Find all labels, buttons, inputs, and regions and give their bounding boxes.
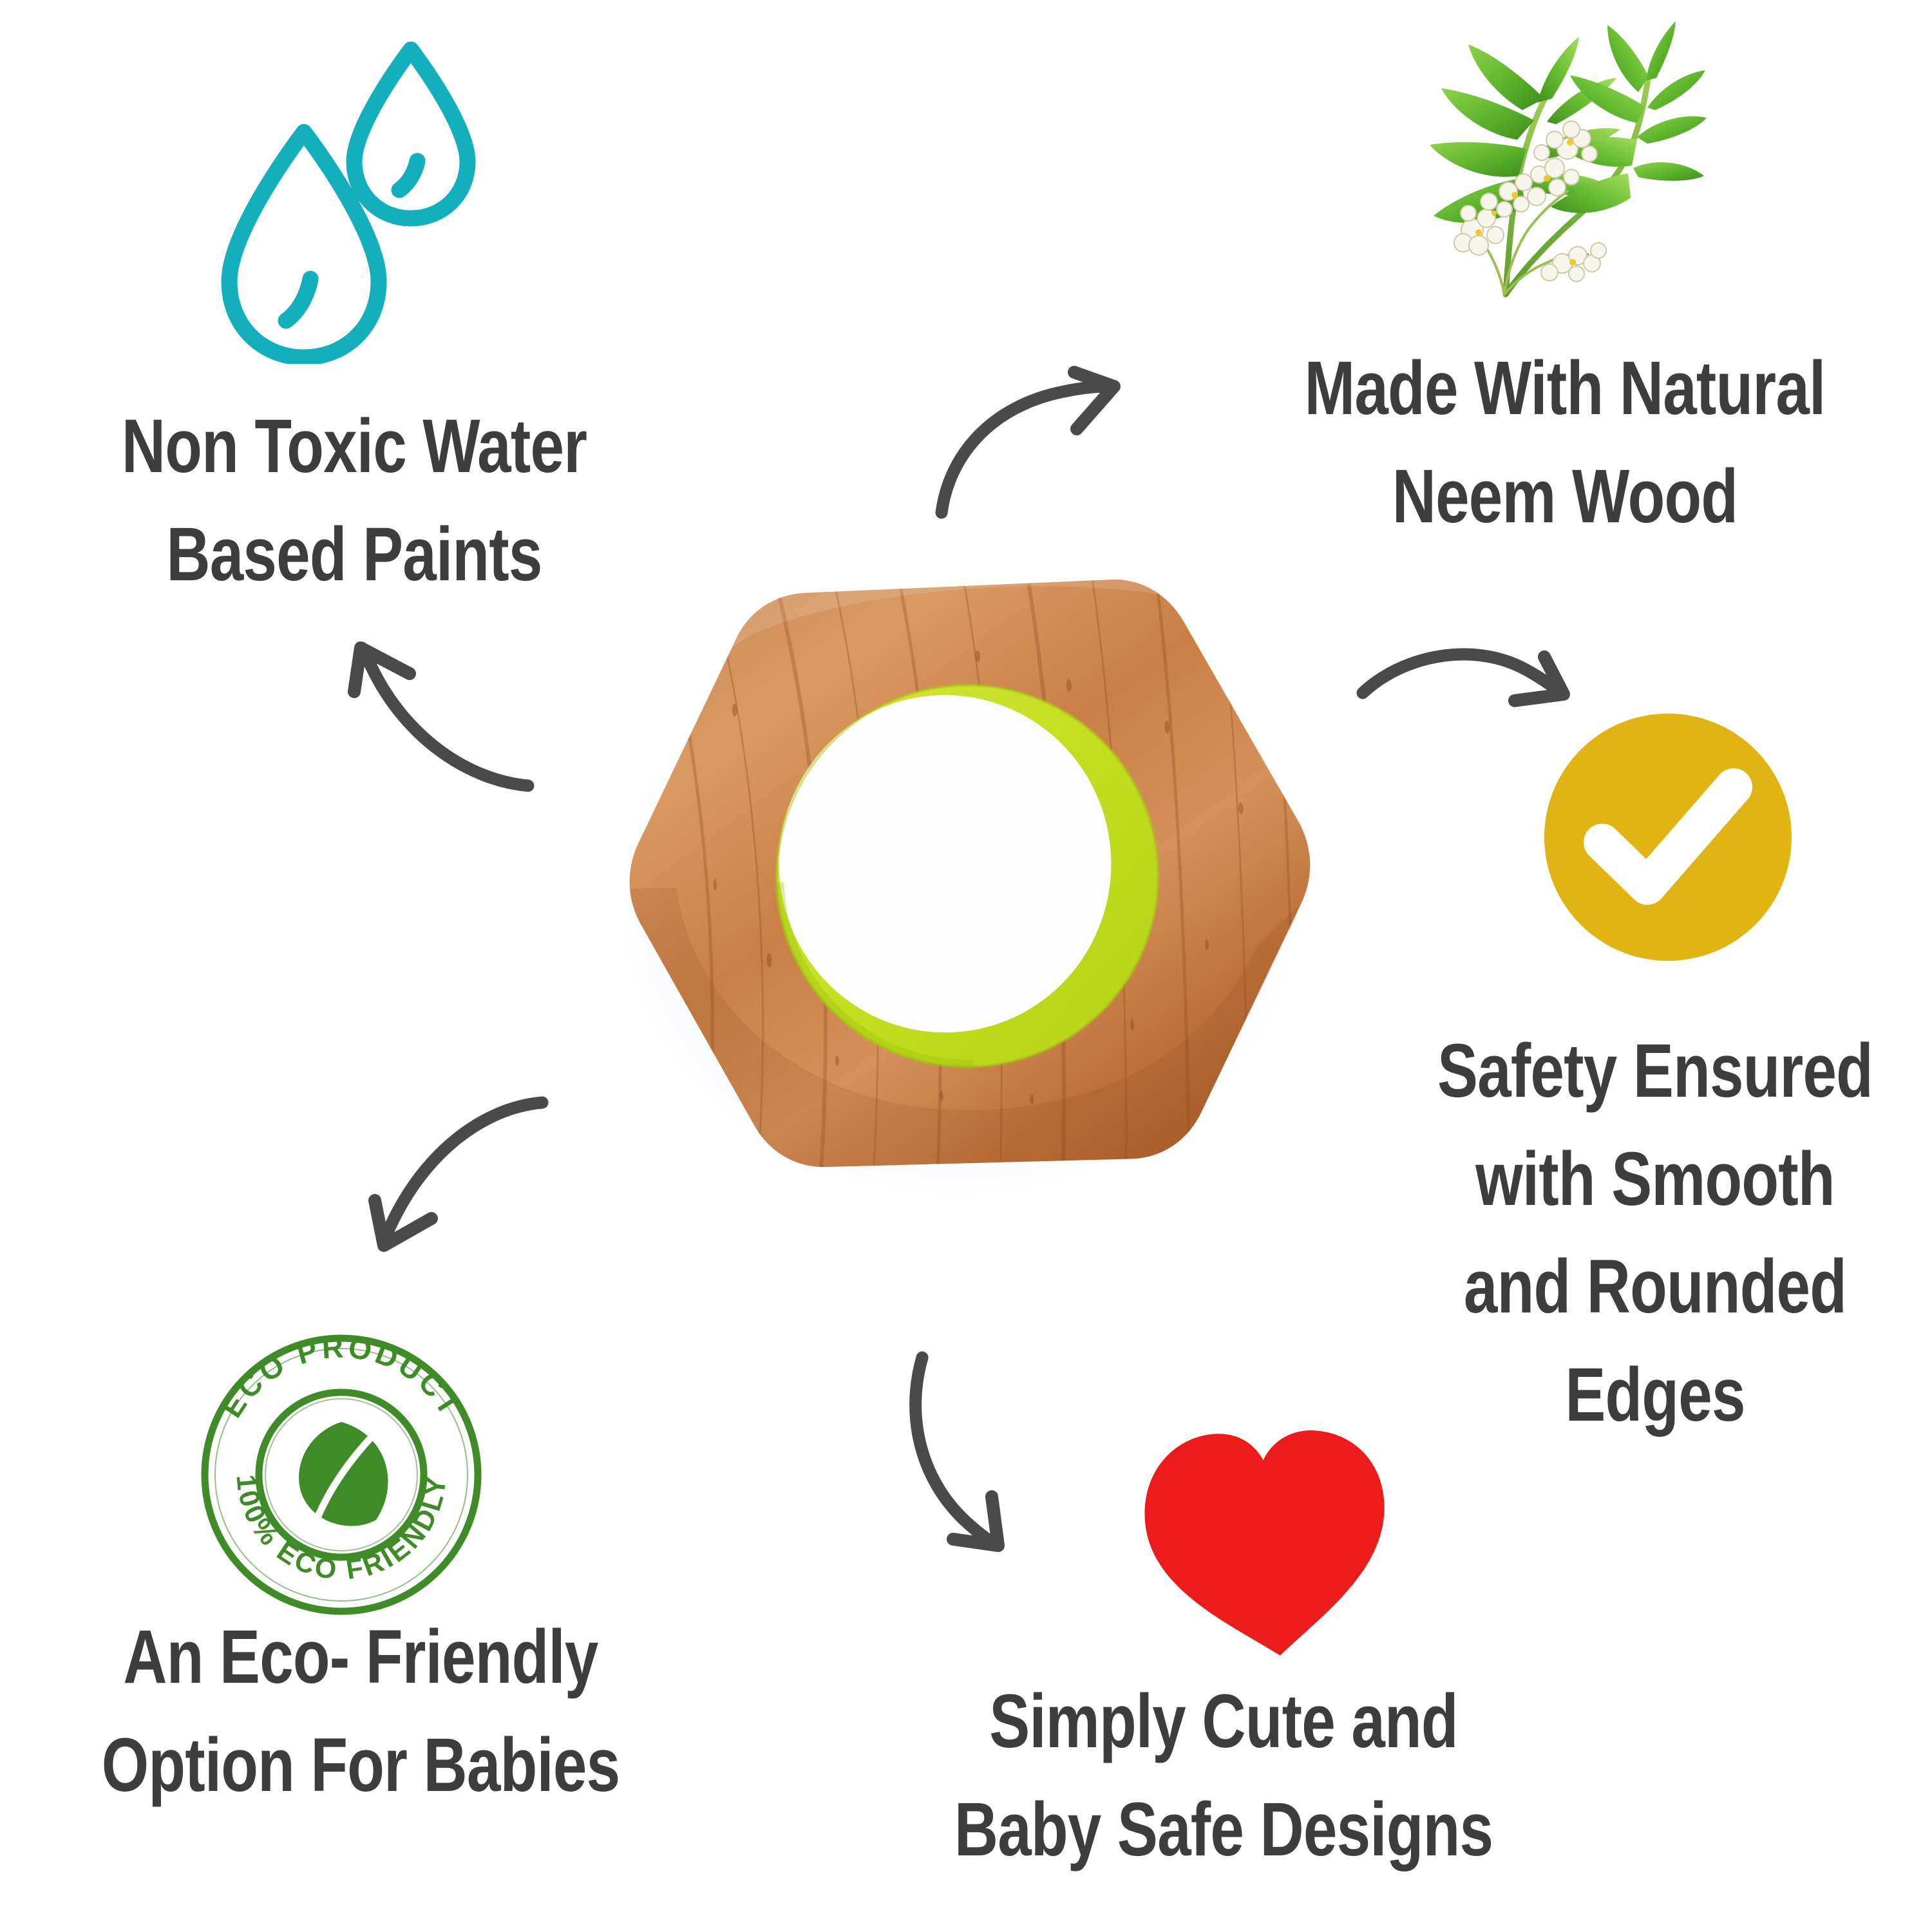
infographic-canvas: Non Toxic Water Based Paints — [0, 0, 1932, 1932]
caption-cute-designs: Simply Cute and Baby Safe Designs — [889, 1668, 1558, 1884]
caption-neem-wood: Made With Natural Neem Wood — [1235, 335, 1895, 551]
eco-stamp-top-text: ECO PRODUCT — [214, 1330, 468, 1423]
caption-safety-edges: Safety Ensured with Smooth and Rounded E… — [1341, 1018, 1932, 1449]
product-image-wooden-teether — [573, 541, 1365, 1333]
caption-line: Option For Babies — [41, 1712, 680, 1820]
neem-branch-icon — [1372, 16, 1707, 325]
caption-line: Neem Wood — [1235, 443, 1895, 551]
arrow-to-neem-wood — [902, 341, 1172, 547]
caption-line: with Smooth — [1341, 1126, 1932, 1234]
caption-line: and Rounded — [1341, 1233, 1932, 1341]
eco-product-stamp: ECO PRODUCT 100% ECO FRIENDLY — [193, 1327, 489, 1623]
water-drops-icon — [213, 35, 489, 364]
caption-line: Edges — [1341, 1341, 1932, 1450]
caption-line: Made With Natural — [1235, 335, 1895, 443]
arrow-to-safety — [1346, 638, 1604, 799]
caption-eco-friendly: An Eco- Friendly Option For Babies — [41, 1604, 680, 1819]
caption-line: Safety Ensured — [1341, 1018, 1932, 1126]
svg-text:ECO PRODUCT: ECO PRODUCT — [214, 1330, 468, 1423]
caption-line: Non Toxic Water — [40, 393, 668, 501]
arrow-to-eco — [354, 1063, 625, 1282]
heart-icon — [1121, 1391, 1410, 1681]
caption-line: Baby Safe Designs — [889, 1776, 1558, 1884]
caption-line: Simply Cute and — [889, 1668, 1558, 1776]
arrow-to-paints — [309, 612, 580, 824]
arrow-to-designs — [882, 1320, 1140, 1578]
caption-line: An Eco- Friendly — [41, 1604, 680, 1712]
